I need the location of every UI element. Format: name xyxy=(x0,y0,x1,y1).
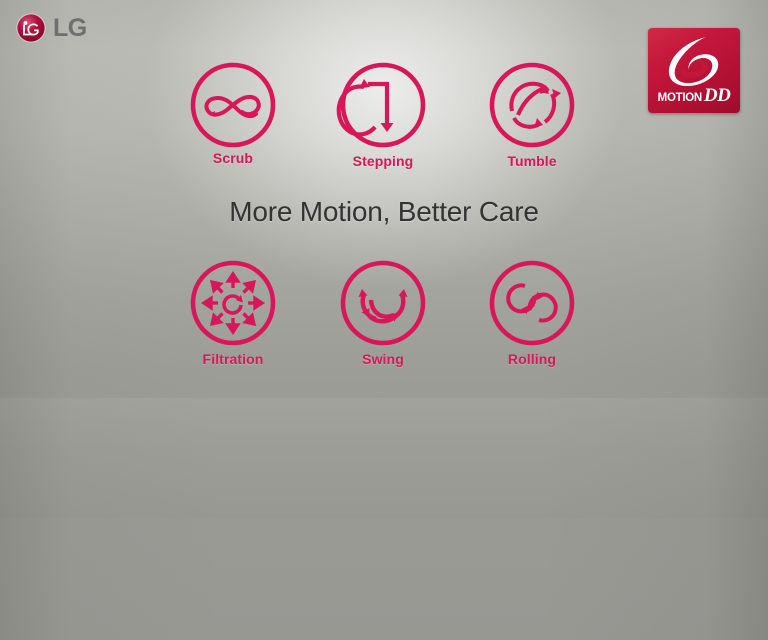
lg-logo-text: LG xyxy=(53,16,87,41)
feature-label-swing: Swing xyxy=(308,352,458,367)
feature-stepping[interactable]: Stepping xyxy=(308,60,458,169)
double-circular-arrows-icon xyxy=(487,258,577,348)
infinity-arrows-icon xyxy=(188,60,278,150)
lg-mark-icon xyxy=(16,13,46,43)
badge-numeral-six-icon xyxy=(648,32,740,88)
six-motion-dd-badge: MOTIONDD xyxy=(648,28,740,113)
swing-u-arrows-icon xyxy=(338,258,428,348)
tumble-loop-arrows-icon xyxy=(487,60,577,150)
promo-graphic: LG MOTIONDD xyxy=(0,0,768,640)
badge-dd-text: DD xyxy=(704,85,730,106)
feature-scrub[interactable]: Scrub xyxy=(158,60,308,166)
feature-label-rolling: Rolling xyxy=(457,352,607,367)
circular-down-arrow-icon xyxy=(338,60,428,150)
feature-swing[interactable]: Swing xyxy=(308,258,458,367)
feature-label-scrub: Scrub xyxy=(158,151,308,166)
radial-arrows-icon xyxy=(188,258,278,348)
feature-filtration[interactable]: Filtration xyxy=(158,258,308,367)
lg-logo: LG xyxy=(16,13,87,43)
feature-tumble[interactable]: Tumble xyxy=(457,60,607,169)
badge-motion-text: MOTION xyxy=(658,92,702,104)
page-title: More Motion, Better Care xyxy=(0,195,768,229)
feature-label-stepping: Stepping xyxy=(308,154,458,169)
feature-label-filtration: Filtration xyxy=(158,352,308,367)
feature-label-tumble: Tumble xyxy=(457,154,607,169)
feature-rolling[interactable]: Rolling xyxy=(457,258,607,367)
badge-wordmark: MOTIONDD xyxy=(648,86,740,105)
